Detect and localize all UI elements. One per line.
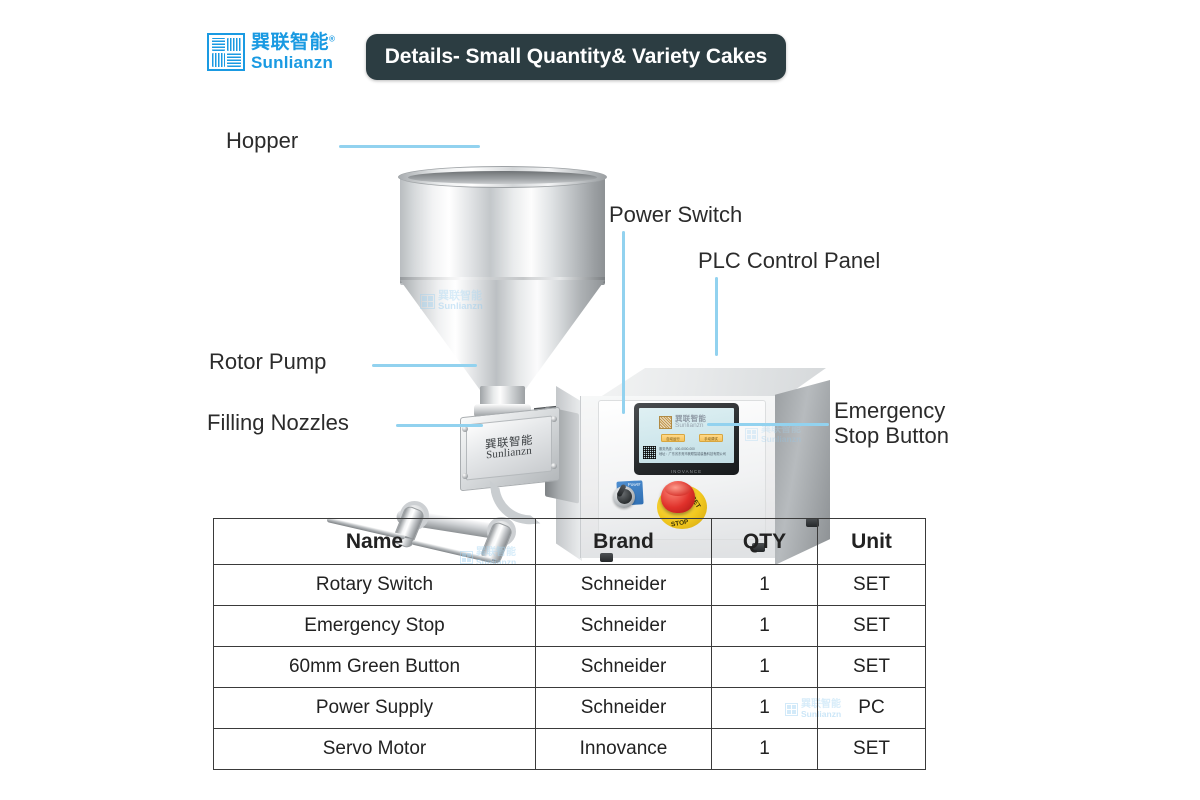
- cell-qty: 1: [712, 606, 818, 647]
- leader-line-emergency-stop: [707, 423, 829, 426]
- column-header-name: Name: [214, 519, 536, 565]
- cell-name: 60mm Green Button: [214, 647, 536, 688]
- company-logo: 巽联智能® Sunlianzn: [207, 33, 335, 71]
- cell-name: Servo Motor: [214, 729, 536, 770]
- cell-unit: SET: [818, 647, 926, 688]
- cell-unit: PC: [818, 688, 926, 729]
- column-header-brand: Brand: [536, 519, 712, 565]
- table-header-row: Name Brand QTY Unit: [214, 519, 926, 565]
- qr-code-icon: [643, 446, 656, 459]
- page-title-banner: Details- Small Quantity& Variety Cakes: [366, 34, 786, 80]
- plc-hmi-bezel: 巽联智能 Sunlianzn 自动运行 手动调试 服务热线：400-0000-0…: [634, 403, 739, 475]
- cell-brand: Schneider: [536, 565, 712, 606]
- hmi-logo-text: 巽联智能 Sunlianzn: [675, 415, 706, 429]
- cell-unit: SET: [818, 729, 926, 770]
- watermark-mark-icon: [420, 294, 435, 309]
- component-spec-table: Name Brand QTY Unit Rotary Switch Schnei…: [213, 518, 926, 770]
- table-row: Rotary Switch Schneider 1 SET: [214, 565, 926, 606]
- cell-brand: Schneider: [536, 606, 712, 647]
- logo-mark-icon: [207, 33, 245, 71]
- pump-plate-english: Sunlianzn: [486, 446, 532, 462]
- plc-hmi-screen[interactable]: 巽联智能 Sunlianzn 自动运行 手动调试 服务热线：400-0000-0…: [639, 408, 734, 463]
- logo-wordmark: 巽联智能® Sunlianzn: [251, 33, 335, 71]
- pump-screw-icon: [551, 463, 557, 469]
- column-header-qty: QTY: [712, 519, 818, 565]
- leader-line-filling-nozzles: [396, 424, 483, 427]
- cell-brand: Schneider: [536, 647, 712, 688]
- page-title: Details- Small Quantity& Variety Cakes: [385, 45, 768, 69]
- hmi-manual-button[interactable]: 手动调试: [699, 434, 723, 442]
- cell-qty: 1: [712, 565, 818, 606]
- table-row: Servo Motor Innovance 1 SET: [214, 729, 926, 770]
- page-root: 巽联智能® Sunlianzn Details- Small Quantity&…: [0, 0, 1200, 800]
- table-row: 60mm Green Button Schneider 1 SET: [214, 647, 926, 688]
- leader-line-hopper: [339, 145, 480, 148]
- watermark-text: 巽联智能 Sunlianzn: [438, 291, 483, 312]
- hmi-logo: 巽联智能 Sunlianzn: [659, 415, 706, 429]
- callout-rotor-pump: Rotor Pump: [209, 350, 326, 375]
- pump-screw-icon: [462, 473, 468, 479]
- product-photo: 巽联智能 Sunlianzn 巽联智能 Sunlianzn: [0, 80, 1200, 510]
- emergency-stop-cap: [665, 483, 691, 496]
- column-header-unit: Unit: [818, 519, 926, 565]
- hopper-opening: [408, 171, 597, 184]
- logo-chinese-name: 巽联智能: [251, 33, 329, 52]
- watermark-text: 巽联智能 Sunlianzn: [761, 425, 801, 444]
- cell-qty: 1: [712, 729, 818, 770]
- cell-brand: Innovance: [536, 729, 712, 770]
- cell-unit: SET: [818, 606, 926, 647]
- hmi-logo-mark-icon: [659, 416, 672, 429]
- registered-trademark-icon: ®: [329, 35, 335, 44]
- hopper-cylinder: [400, 175, 605, 285]
- hmi-auto-run-button[interactable]: 自动运行: [661, 434, 685, 442]
- watermark-machine-body: 巽联智能 Sunlianzn: [745, 425, 801, 444]
- cell-unit: SET: [818, 565, 926, 606]
- hmi-info-text: 服务热线：400-0000-000 地址：广东省东莞市巽联智能装备科技有限公司: [659, 447, 734, 458]
- callout-filling-nozzles: Filling Nozzles: [207, 411, 349, 436]
- callout-power-switch: Power Switch: [609, 203, 742, 228]
- leader-line-power-switch: [622, 231, 625, 414]
- watermark-hopper: 巽联智能 Sunlianzn: [420, 291, 483, 312]
- cell-qty: 1: [712, 647, 818, 688]
- pump-screw-icon: [551, 416, 557, 422]
- leader-line-plc-control-panel: [715, 277, 718, 356]
- leader-line-rotor-pump: [372, 364, 477, 367]
- logo-english-name: Sunlianzn: [251, 54, 335, 71]
- callout-emergency-stop-button: Emergency Stop Button: [834, 399, 949, 448]
- hmi-brand-label: INOVANCE: [634, 469, 739, 474]
- callout-hopper: Hopper: [226, 129, 298, 154]
- table-row: Power Supply Schneider 1 PC: [214, 688, 926, 729]
- callout-plc-control-panel: PLC Control Panel: [698, 249, 880, 274]
- watermark-mark-icon: [745, 428, 758, 441]
- cell-qty: 1: [712, 688, 818, 729]
- cell-brand: Schneider: [536, 688, 712, 729]
- table-row: Emergency Stop Schneider 1 SET: [214, 606, 926, 647]
- cell-name: Power Supply: [214, 688, 536, 729]
- cell-name: Rotary Switch: [214, 565, 536, 606]
- cell-name: Emergency Stop: [214, 606, 536, 647]
